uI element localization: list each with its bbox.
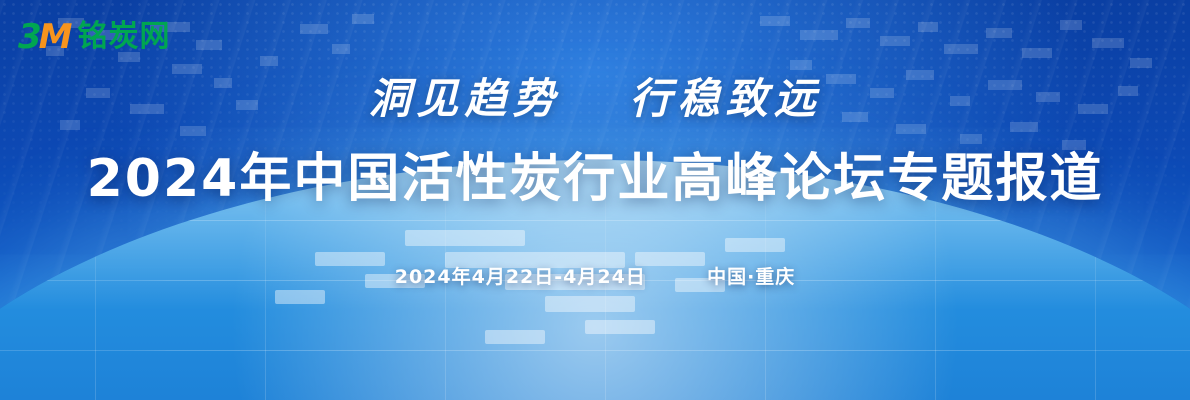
- conference-banner: 3 M 铭炭网 洞见趋势 行稳致远 2024年中国活性炭行业高峰论坛专题报道 2…: [0, 0, 1190, 400]
- logo-numeral-3: 3: [18, 20, 41, 54]
- logo-letter-m: M: [39, 20, 72, 54]
- slogan: 洞见趋势 行稳致远: [0, 78, 1190, 120]
- slogan-right-text: 行稳致远: [630, 74, 822, 123]
- event-details: 2024年4月22日-4月24日 中国·重庆: [0, 262, 1190, 289]
- event-date: 2024年4月22日-4月24日: [395, 266, 646, 288]
- event-location: 中国·重庆: [707, 266, 795, 288]
- page-title: 2024年中国活性炭行业高峰论坛专题报道: [0, 152, 1190, 207]
- logo-site-name: 铭炭网: [78, 22, 171, 52]
- site-logo[interactable]: 3 M 铭炭网: [16, 12, 177, 62]
- slogan-left-text: 洞见趋势: [368, 74, 560, 123]
- logo-mark: 3 M: [18, 20, 72, 54]
